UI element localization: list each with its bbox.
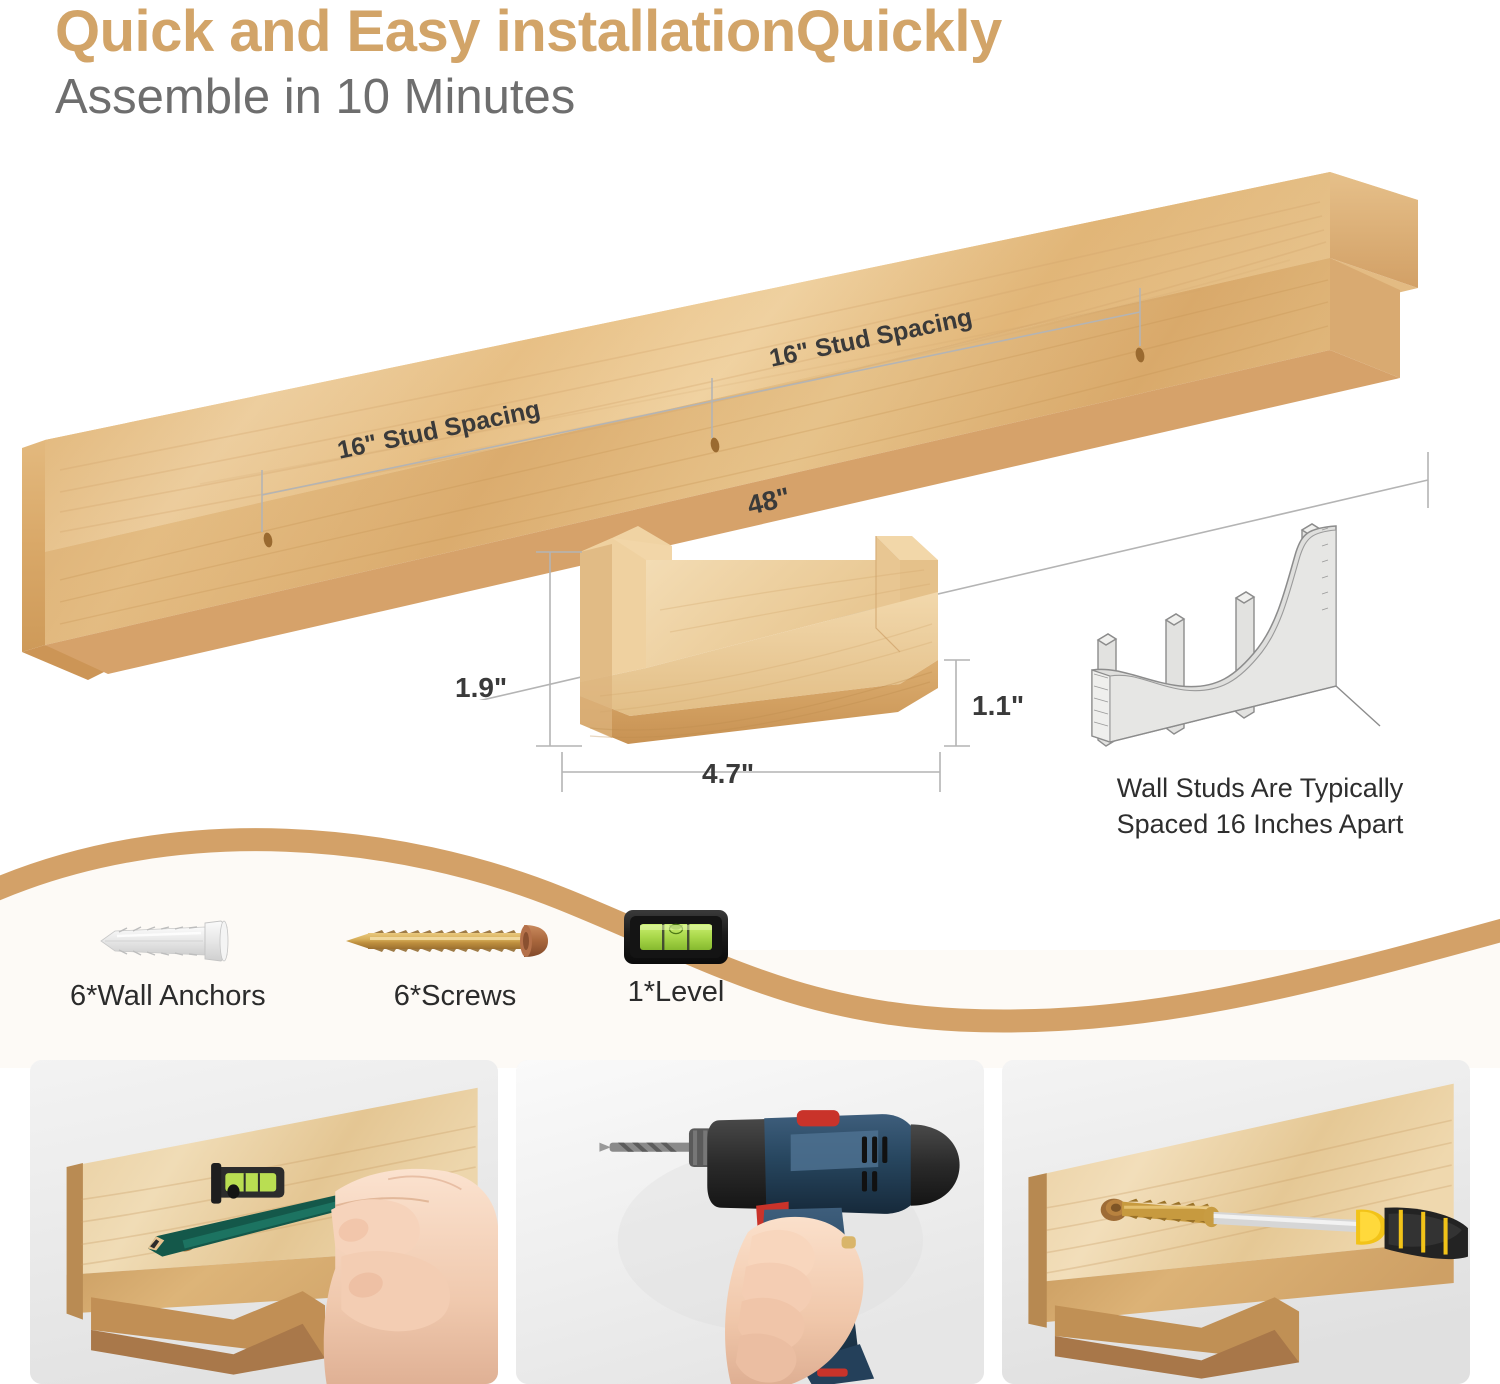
hand bbox=[324, 1169, 498, 1384]
accessory-item-screws: 6*Screws bbox=[340, 910, 570, 1013]
step-photo-drive-screw bbox=[1002, 1060, 1470, 1384]
page-subtitle: Assemble in 10 Minutes bbox=[55, 69, 1375, 125]
dim-label-depth: 4.7" bbox=[702, 758, 754, 790]
stud-wall-caption-line1: Wall Studs Are Typically bbox=[1050, 770, 1470, 806]
step-photo-drill-wall bbox=[516, 1060, 984, 1384]
dim-label-height: 1.9" bbox=[455, 672, 507, 704]
accessory-label-wall-anchors: 6*Wall Anchors bbox=[70, 980, 266, 1013]
bubble-level-icon bbox=[620, 906, 732, 968]
page-title: Quick and Easy installationQuickly bbox=[55, 2, 1375, 63]
drywall-sheet bbox=[1092, 526, 1336, 742]
accessory-label-level: 1*Level bbox=[620, 976, 732, 1009]
step-photo-mark-holes bbox=[30, 1060, 498, 1384]
drill-bit bbox=[599, 1143, 693, 1152]
wall-anchor-icon bbox=[70, 910, 266, 972]
accessories-row: 6*Wall Anchors bbox=[0, 900, 820, 1030]
shelf-profile-illustration bbox=[520, 500, 970, 800]
accessory-label-screws: 6*Screws bbox=[340, 980, 570, 1013]
screw-icon bbox=[340, 910, 570, 972]
dim-label-lip-height: 1.1" bbox=[972, 690, 1024, 722]
cross-section-diagram: 1.9" 1.1" 4.7" bbox=[520, 500, 970, 800]
wall-studs-illustration bbox=[1050, 490, 1470, 790]
installation-steps-photos bbox=[0, 1060, 1500, 1384]
infographic-canvas: Quick and Easy installationQuickly Assem… bbox=[0, 0, 1500, 1384]
accessory-item-wall-anchors: 6*Wall Anchors bbox=[70, 910, 266, 1013]
heading-block: Quick and Easy installationQuickly Assem… bbox=[55, 2, 1375, 125]
accessory-item-level: 1*Level bbox=[620, 906, 732, 1009]
